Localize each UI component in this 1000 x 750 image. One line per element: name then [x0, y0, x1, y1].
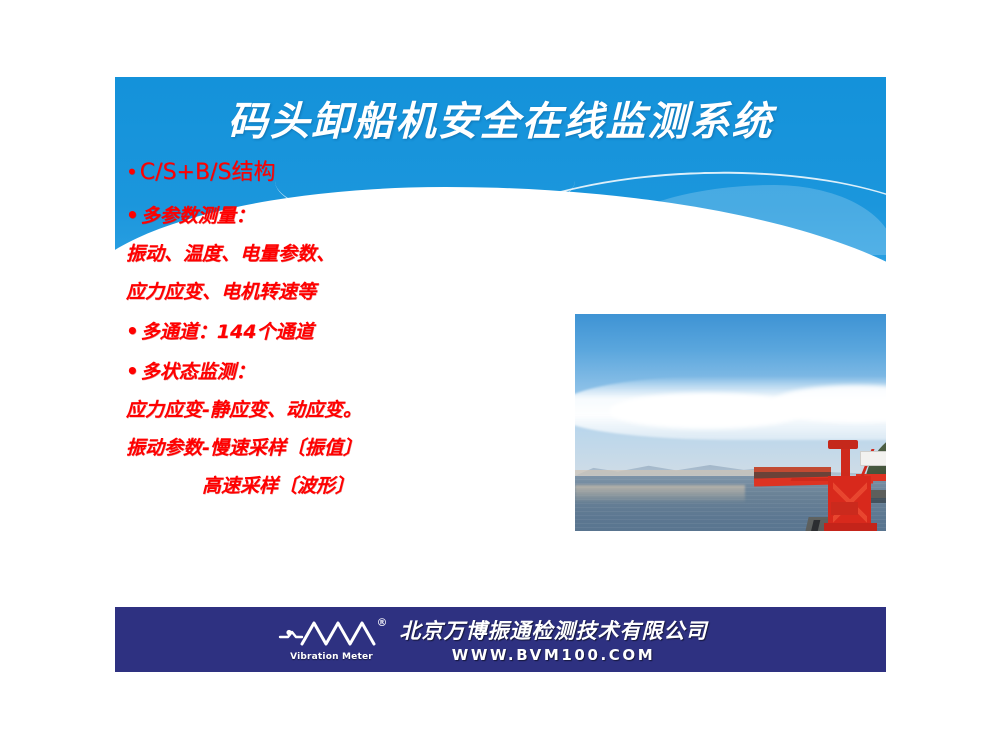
list-item: 多状态监测：: [126, 361, 476, 382]
list-item: 应力应变、电机转速等: [126, 283, 476, 302]
photo-crane-sign: [860, 451, 886, 467]
list-item: 多通道：144个通道: [126, 321, 476, 342]
list-item: 振动参数-慢速采样〔振值〕: [126, 439, 476, 458]
footer-text-group: 北京万博振通检测技术有限公司 WWW.BVM100.COM: [400, 615, 708, 664]
list-item: 应力应变-静应变、动应变。: [126, 401, 476, 420]
registered-trademark-icon: ®: [377, 616, 388, 629]
slide-canvas: 码头卸船机安全在线监测系统 C/S+B/S结构 多参数测量： 振动、温度、电量参…: [0, 0, 1000, 750]
footer-bar: ® Vibration Meter 北京万博振通检测技术有限公司 WWW.BVM…: [115, 607, 886, 672]
photo-crane-machine-house: [831, 502, 859, 515]
footer-company-name: 北京万博振通检测技术有限公司: [400, 615, 708, 645]
vibration-wave-icon: ® Vibration Meter: [278, 618, 386, 662]
list-item: C/S+B/S结构: [126, 162, 476, 184]
photo-crane-head: [828, 440, 858, 449]
photo-sandbar: [575, 485, 745, 503]
list-item: 多参数测量：: [126, 205, 476, 226]
page-title: 码头卸船机安全在线监测系统: [115, 100, 886, 144]
logo-subtitle: Vibration Meter: [282, 652, 382, 662]
content-panel: 码头卸船机安全在线监测系统 C/S+B/S结构 多参数测量： 振动、温度、电量参…: [115, 77, 886, 531]
ship-unloader-photo: [575, 314, 886, 531]
bullet-list: C/S+B/S结构 多参数测量： 振动、温度、电量参数、 应力应变、电机转速等 …: [126, 162, 476, 496]
footer-website-url[interactable]: WWW.BVM100.COM: [452, 646, 656, 664]
photo-crane-mast: [841, 445, 850, 479]
photo-crane-base: [824, 523, 877, 531]
list-item: 振动、温度、电量参数、: [126, 245, 476, 264]
footer-content: ® Vibration Meter 北京万博振通检测技术有限公司 WWW.BVM…: [278, 615, 708, 664]
list-item: 高速采样〔波形〕: [126, 477, 476, 496]
